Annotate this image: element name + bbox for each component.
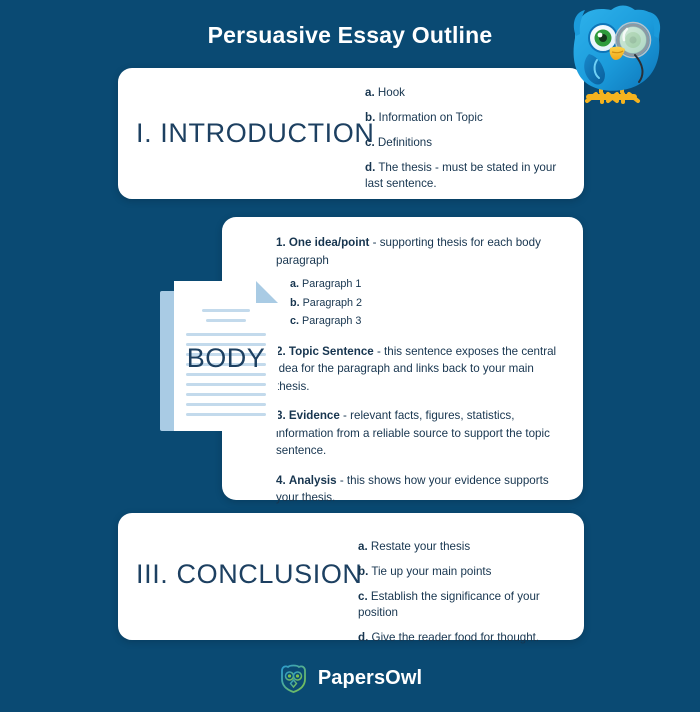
list-text: Establish the significance of your posit… xyxy=(358,590,540,619)
list-text: Information on Topic xyxy=(379,111,483,124)
list-marker: d. xyxy=(365,161,375,174)
list-item: b. Tie up your main points xyxy=(358,564,576,580)
list-text: Definitions xyxy=(378,136,432,149)
list-text: Paragraph 1 xyxy=(302,278,361,290)
body-item: 3. Evidence - relevant facts, figures, s… xyxy=(276,407,570,460)
body-item: 1. One idea/point - supporting thesis fo… xyxy=(276,234,570,331)
list-marker: b. xyxy=(358,565,368,578)
list-text: Paragraph 3 xyxy=(302,315,361,327)
list-text: Paragraph 2 xyxy=(303,297,362,309)
owl-mascot-icon xyxy=(563,2,683,114)
body-item-term: Analysis xyxy=(289,474,337,487)
list-text: Tie up your main points xyxy=(371,565,491,578)
brand-name: PapersOwl xyxy=(318,667,422,690)
introduction-heading: I. INTRODUCTION xyxy=(136,118,375,149)
list-marker: a. xyxy=(358,540,368,553)
papersowl-owl-icon xyxy=(278,663,309,694)
list-item: a. Paragraph 1 xyxy=(290,276,570,294)
conclusion-card: III. CONCLUSION a. Restate your thesis b… xyxy=(118,513,584,640)
body-item-term: Evidence xyxy=(289,409,340,422)
list-text: The thesis - must be stated in your last… xyxy=(365,161,556,190)
introduction-card: I. INTRODUCTION a. Hook b. Information o… xyxy=(118,68,584,199)
list-marker: b. xyxy=(365,111,375,124)
list-marker: c. xyxy=(358,590,368,603)
body-item-term: Topic Sentence xyxy=(289,345,374,358)
list-item: d. The thesis - must be stated in your l… xyxy=(365,160,570,192)
list-text: Hook xyxy=(378,86,405,99)
body-item-term: One idea/point xyxy=(289,236,370,249)
list-item: c. Paragraph 3 xyxy=(290,313,570,331)
body-item-number: 4. xyxy=(276,474,286,487)
body-item-number: 1. xyxy=(276,236,286,249)
list-item: c. Definitions xyxy=(365,135,570,151)
list-item: a. Hook xyxy=(365,85,570,101)
introduction-list: a. Hook b. Information on Topic c. Defin… xyxy=(365,85,570,192)
list-marker: c. xyxy=(365,136,375,149)
body-document-illustration: BODY xyxy=(160,281,284,433)
infographic-page: Persuasive Essay Outline I. INTRODUCTION… xyxy=(0,0,700,712)
list-item: b. Information on Topic xyxy=(365,110,570,126)
list-item: c. Establish the significance of your po… xyxy=(358,589,576,621)
conclusion-list: a. Restate your thesis b. Tie up your ma… xyxy=(358,539,576,646)
list-marker: a. xyxy=(290,278,299,290)
body-item: 4. Analysis - this shows how your eviden… xyxy=(276,472,570,507)
list-item: b. Paragraph 2 xyxy=(290,295,570,313)
list-item: a. Restate your thesis xyxy=(358,539,576,555)
list-text: Restate your thesis xyxy=(371,540,470,553)
list-marker: d. xyxy=(358,631,368,644)
body-sub-list: a. Paragraph 1 b. Paragraph 2 c. Paragra… xyxy=(290,276,570,331)
list-text: Give the reader food for thought. xyxy=(372,631,540,644)
body-item: 2. Topic Sentence - this sentence expose… xyxy=(276,343,570,396)
list-item: d. Give the reader food for thought. xyxy=(358,630,576,646)
list-marker: a. xyxy=(365,86,375,99)
svg-text:BODY: BODY xyxy=(187,343,266,373)
list-marker: b. xyxy=(290,297,300,309)
conclusion-heading: III. CONCLUSION xyxy=(136,559,363,590)
list-marker: c. xyxy=(290,315,299,327)
body-list: 1. One idea/point - supporting thesis fo… xyxy=(276,234,570,519)
footer-logo[interactable]: PapersOwl xyxy=(0,657,700,699)
